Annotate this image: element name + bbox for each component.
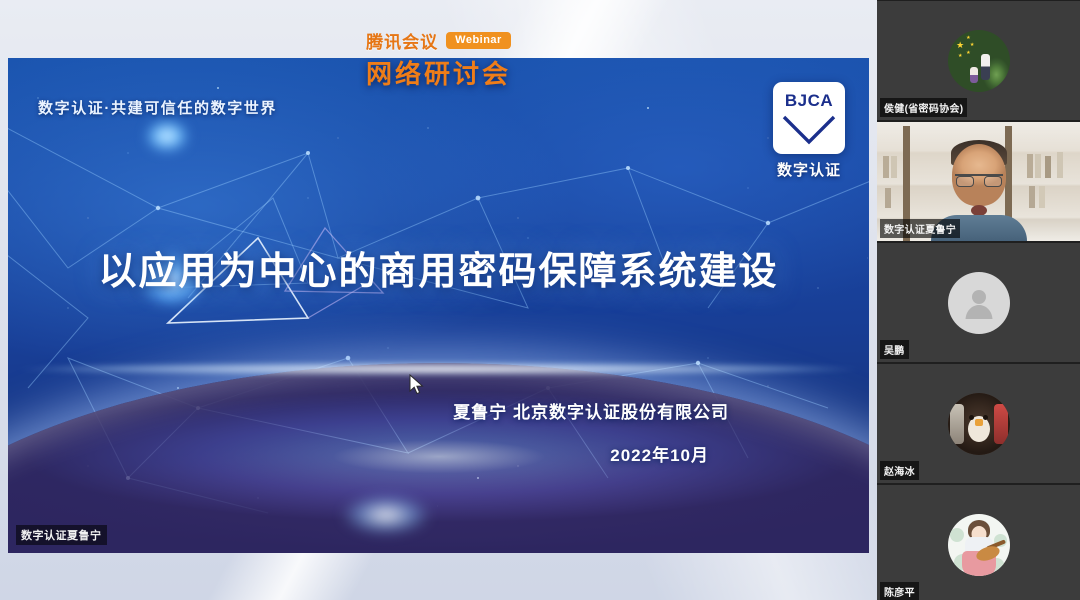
presentation-slide[interactable]: 网络研讨会 数字认证·共建可信任的数字世界 BJCA 数字认证 以应用为中心的商…: [8, 58, 869, 553]
avatar: [948, 514, 1010, 576]
slide-date: 2022年10月: [610, 441, 709, 466]
webinar-branding: 腾讯会议 Webinar: [0, 28, 877, 53]
meeting-window: 腾讯会议 Webinar: [0, 0, 1080, 600]
speaker-glasses: [955, 174, 1003, 186]
arrow-cursor-icon: [409, 374, 425, 396]
webinar-badge: Webinar: [446, 32, 511, 49]
bjca-logo: BJCA 数字认证: [769, 82, 849, 180]
participant-tile[interactable]: 赵海冰: [877, 364, 1080, 483]
webinar-headline: 网络研讨会: [8, 58, 869, 91]
participant-tile-active-speaker[interactable]: 数字认证夏鲁宁: [877, 122, 1080, 241]
bjca-logo-name: 数字认证: [769, 159, 849, 180]
avatar: ★ ★ ★ ★ ★: [948, 30, 1010, 92]
shared-screen-stage[interactable]: 腾讯会议 Webinar: [0, 0, 877, 600]
participant-name: 侯健(省密码协会): [880, 98, 967, 117]
bjca-logo-mark: BJCA: [773, 82, 845, 154]
shared-screen-name-watermark: 数字认证夏鲁宁: [16, 525, 107, 545]
bjca-checkmark-icon: [782, 115, 836, 145]
slide-title: 以应用为中心的商用密码保障系统建设: [8, 240, 869, 295]
platform-brand-label: 腾讯会议: [366, 28, 438, 53]
participant-rail[interactable]: ★ ★ ★ ★ ★ 侯健(省密码协会): [877, 0, 1080, 600]
participant-name: 赵海冰: [880, 461, 919, 480]
participant-name: 吴鹏: [880, 340, 909, 359]
slide-presenter: 夏鲁宁 北京数字认证股份有限公司: [453, 398, 729, 423]
bjca-logo-text: BJCA: [773, 91, 845, 111]
avatar: [948, 393, 1010, 455]
participant-tile[interactable]: 陈彦平: [877, 485, 1080, 600]
slide-tagline: 数字认证·共建可信任的数字世界: [38, 97, 277, 118]
default-person-icon: [948, 272, 1010, 334]
participant-name: 陈彦平: [880, 582, 919, 600]
participant-name: 数字认证夏鲁宁: [880, 219, 960, 238]
participant-tile[interactable]: ★ ★ ★ ★ ★ 侯健(省密码协会): [877, 1, 1080, 120]
participant-tile[interactable]: 吴鹏: [877, 243, 1080, 362]
